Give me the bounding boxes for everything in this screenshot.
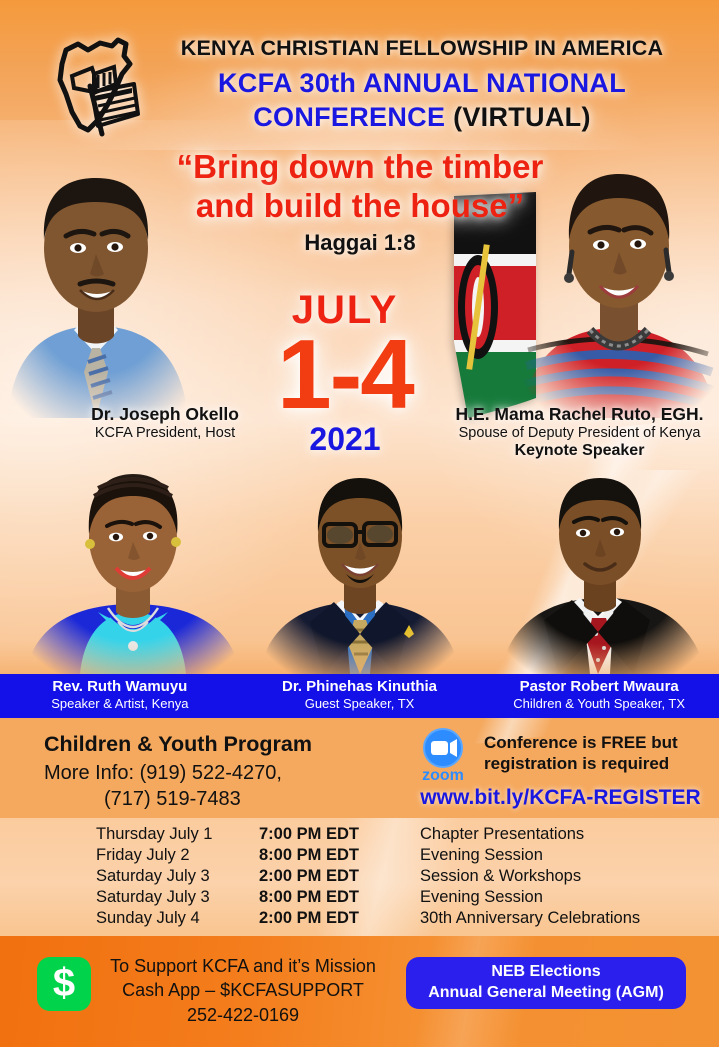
support-line-2: Cash App – $KCFASUPPORT	[98, 978, 388, 1002]
schedule-desc: Evening Session	[420, 888, 543, 907]
conference-word: CONFERENCE	[253, 102, 453, 132]
schedule-day: Thursday July 1	[96, 825, 259, 844]
speaker-portrait-row	[0, 462, 719, 674]
schedule-row: Sunday July 4 2:00 PM EDT 30th Anniversa…	[0, 908, 719, 929]
scripture-reference: Haggai 1:8	[150, 230, 570, 256]
portrait-robert-mwaura	[500, 462, 708, 674]
keynote-speaker-label: Keynote Speaker	[440, 442, 719, 460]
children-youth-program-title: Children & Youth Program	[44, 732, 312, 757]
conference-poster: KENYA CHRISTIAN FELLOWSHIP IN AMERICA KC…	[0, 0, 719, 1047]
dollar-symbol: $	[53, 963, 75, 1003]
registration-url[interactable]: www.bit.ly/KCFA-REGISTER	[408, 786, 713, 810]
cash-app-dollar-icon: $	[37, 957, 91, 1011]
speaker-name: H.E. Mama Rachel Ruto, EGH.	[440, 404, 719, 425]
schedule-day: Sunday July 4	[96, 909, 259, 928]
speaker-role: Children & Youth Speaker, TX	[479, 696, 719, 711]
theme-line-1: “Bring down the timber	[150, 148, 570, 187]
support-line-3: 252-422-0169	[98, 1003, 388, 1027]
svg-text:zoom: zoom	[422, 767, 464, 784]
info-band: Children & Youth Program More Info: (919…	[0, 718, 719, 818]
schedule-time: 2:00 PM EDT	[259, 909, 420, 928]
schedule-row: Friday July 2 8:00 PM EDT Evening Sessio…	[0, 845, 719, 866]
schedule-day: Saturday July 3	[96, 867, 259, 886]
schedule-desc: Evening Session	[420, 846, 543, 865]
caption-rachel-ruto: H.E. Mama Rachel Ruto, EGH. Spouse of De…	[440, 404, 719, 460]
schedule-time: 2:00 PM EDT	[259, 867, 420, 886]
schedule-row: Saturday July 3 2:00 PM EDT Session & Wo…	[0, 866, 719, 887]
schedule-desc: 30th Anniversary Celebrations	[420, 909, 640, 928]
zoom-logo-icon: zoom	[412, 728, 474, 784]
theme-line-2: and build the house”	[150, 187, 570, 226]
conference-theme: “Bring down the timber and build the hou…	[150, 148, 570, 256]
speaker-role: KCFA President, Host	[0, 425, 330, 441]
speaker-bar-item-2: Pastor Robert Mwaura Children & Youth Sp…	[479, 674, 719, 718]
poster-header: KENYA CHRISTIAN FELLOWSHIP IN AMERICA KC…	[0, 22, 719, 142]
neb-line-1: NEB Elections	[491, 962, 600, 983]
speaker-name: Pastor Robert Mwaura	[479, 678, 719, 695]
free-line-2: registration is required	[484, 753, 714, 774]
speaker-name: Dr. Joseph Okello	[0, 404, 330, 425]
more-info-line-1: More Info: (919) 522-4270,	[44, 762, 282, 785]
conference-title-line1: KCFA 30th ANNUAL NATIONAL	[132, 68, 712, 99]
schedule-desc: Chapter Presentations	[420, 825, 584, 844]
speaker-bar-item-1: Dr. Phinehas Kinuthia Guest Speaker, TX	[240, 674, 480, 718]
schedule-desc: Session & Workshops	[420, 867, 581, 886]
schedule-time: 7:00 PM EDT	[259, 825, 420, 844]
portrait-ruth-wamuyu	[22, 462, 244, 674]
caption-joseph-okello: Dr. Joseph Okello KCFA President, Host	[0, 404, 330, 441]
speaker-names-bar: Rev. Ruth Wamuyu Speaker & Artist, Kenya…	[0, 674, 719, 718]
support-info: To Support KCFA and it’s Mission Cash Ap…	[98, 954, 388, 1027]
virtual-label: (VIRTUAL)	[453, 102, 591, 132]
free-line-1: Conference is FREE but	[484, 732, 714, 753]
speaker-bar-item-0: Rev. Ruth Wamuyu Speaker & Artist, Kenya	[0, 674, 240, 718]
more-info-line-2: (717) 519-7483	[104, 788, 241, 811]
support-line-1: To Support KCFA and it’s Mission	[98, 954, 388, 978]
conference-schedule: Thursday July 1 7:00 PM EDT Chapter Pres…	[0, 818, 719, 936]
schedule-day: Saturday July 3	[96, 888, 259, 907]
schedule-row: Thursday July 1 7:00 PM EDT Chapter Pres…	[0, 824, 719, 845]
neb-elections-box: NEB Elections Annual General Meeting (AG…	[406, 957, 686, 1009]
speaker-role: Spouse of Deputy President of Kenya	[440, 425, 719, 441]
speaker-name: Dr. Phinehas Kinuthia	[240, 678, 480, 695]
speaker-role: Guest Speaker, TX	[240, 696, 480, 711]
neb-line-2: Annual General Meeting (AGM)	[428, 983, 664, 1004]
conference-title-line2: CONFERENCE (VIRTUAL)	[132, 102, 712, 133]
schedule-time: 8:00 PM EDT	[259, 846, 420, 865]
schedule-time: 8:00 PM EDT	[259, 888, 420, 907]
speaker-name: Rev. Ruth Wamuyu	[0, 678, 240, 695]
portrait-phinehas-kinuthia	[258, 462, 462, 674]
schedule-row: Saturday July 3 8:00 PM EDT Evening Sess…	[0, 887, 719, 908]
schedule-day: Friday July 2	[96, 846, 259, 865]
organization-name: KENYA CHRISTIAN FELLOWSHIP IN AMERICA	[132, 36, 712, 61]
speaker-role: Speaker & Artist, Kenya	[0, 696, 240, 711]
registration-note: Conference is FREE but registration is r…	[484, 732, 714, 775]
